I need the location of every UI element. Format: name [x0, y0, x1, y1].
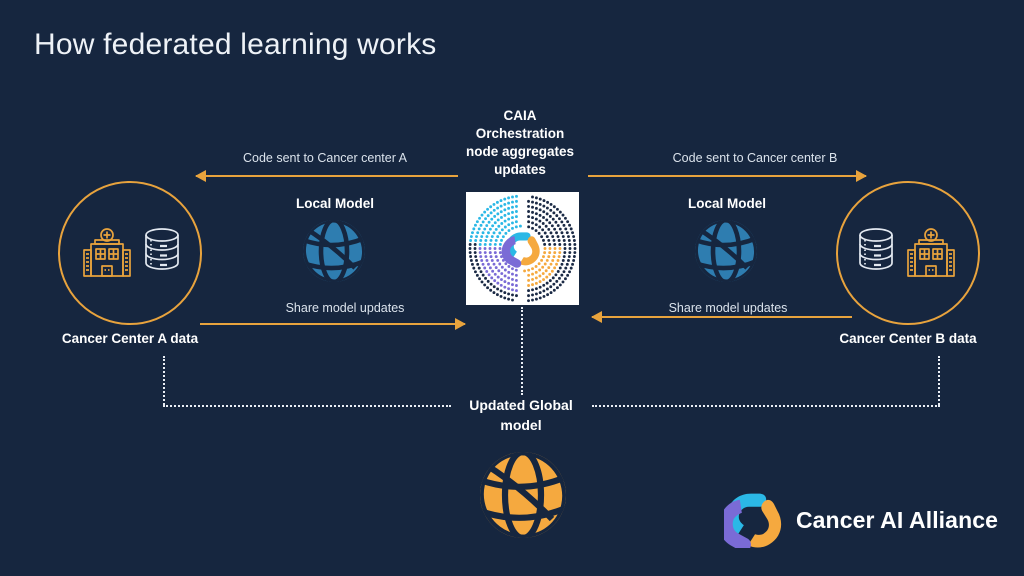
dotted-connector-right-vertical — [938, 356, 940, 405]
hospital-icon — [76, 222, 138, 284]
cancer-center-b-label: Cancer Center B data — [813, 330, 1003, 348]
arrow-head-right-icon — [856, 170, 867, 182]
cancer-center-b-node[interactable] — [836, 181, 980, 325]
left-arrow-top-label: Code sent to Cancer center A — [205, 150, 445, 166]
updated-global-model-globe-icon — [477, 449, 569, 541]
dotted-connector-left-horizontal — [163, 405, 451, 407]
cancer-center-a-node[interactable] — [58, 181, 202, 325]
dotted-connector-center-vertical — [521, 307, 523, 395]
right-local-model-globe-icon — [693, 218, 759, 284]
page-title: How federated learning works — [34, 28, 436, 62]
caia-radial-dots-graphic — [466, 192, 579, 305]
left-local-model-label: Local Model — [265, 195, 405, 213]
caia-caption-line1: CAIA — [450, 107, 590, 125]
arrow-line — [200, 323, 465, 325]
arrow-head-left-icon — [591, 311, 602, 323]
arrow-head-right-icon — [455, 318, 466, 330]
left-arrow-bottom — [200, 317, 465, 331]
right-arrow-bottom — [592, 310, 852, 324]
cancer-ai-alliance-logo — [724, 492, 782, 548]
arrow-head-left-icon — [195, 170, 206, 182]
database-icon — [140, 225, 184, 281]
arrow-line — [588, 175, 866, 177]
arrow-line — [196, 175, 458, 177]
dotted-connector-left-vertical — [163, 356, 165, 405]
caia-caption-line2: Orchestration — [450, 125, 590, 143]
dotted-connector-right-horizontal — [592, 405, 940, 407]
right-arrow-top-label: Code sent to Cancer center B — [545, 150, 965, 166]
brand-logo-block: Cancer AI Alliance — [724, 492, 998, 548]
diagram-canvas: How federated learning works CAIA Orches… — [0, 0, 1024, 576]
right-local-model-label: Local Model — [657, 195, 797, 213]
arrow-line — [592, 316, 852, 318]
right-arrow-top — [588, 169, 866, 183]
hospital-icon — [900, 222, 962, 284]
left-local-model-globe-icon — [301, 218, 367, 284]
updated-global-model-label-line1: Updated Global — [451, 396, 591, 414]
brand-name: Cancer AI Alliance — [796, 507, 998, 534]
cancer-center-a-label: Cancer Center A data — [35, 330, 225, 348]
updated-global-model-label-line2: model — [451, 416, 591, 434]
database-icon — [854, 225, 898, 281]
caia-orchestration-node[interactable] — [466, 192, 579, 305]
left-arrow-top — [196, 169, 458, 183]
left-arrow-bottom-label: Share model updates — [250, 300, 440, 316]
